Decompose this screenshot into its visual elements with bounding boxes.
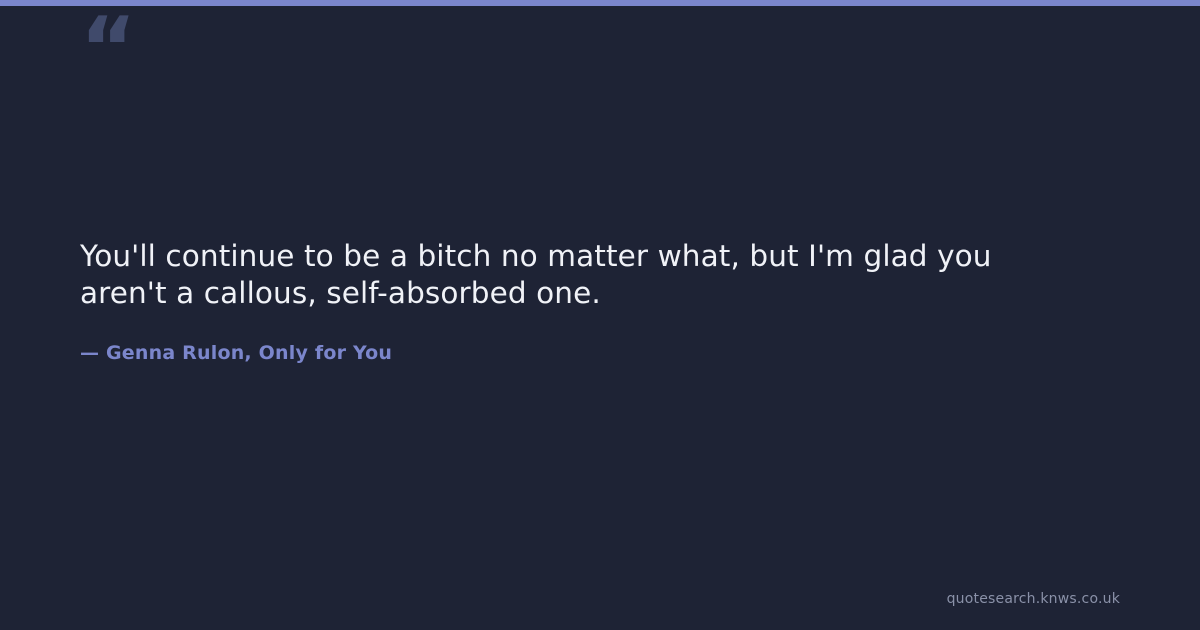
quote-card: “ You'll continue to be a bitch no matte… [0, 0, 1200, 630]
quote-body: You'll continue to be a bitch no matter … [80, 238, 1065, 312]
quote-card-content: “ You'll continue to be a bitch no matte… [80, 0, 1120, 630]
site-watermark: quotesearch.knws.co.uk [947, 590, 1120, 608]
quote-text: You'll continue to be a bitch no matter … [80, 238, 1065, 312]
left-double-quotation-mark-icon: “ [80, 6, 135, 92]
quote-attribution: — Genna Rulon, Only for You [80, 340, 392, 366]
